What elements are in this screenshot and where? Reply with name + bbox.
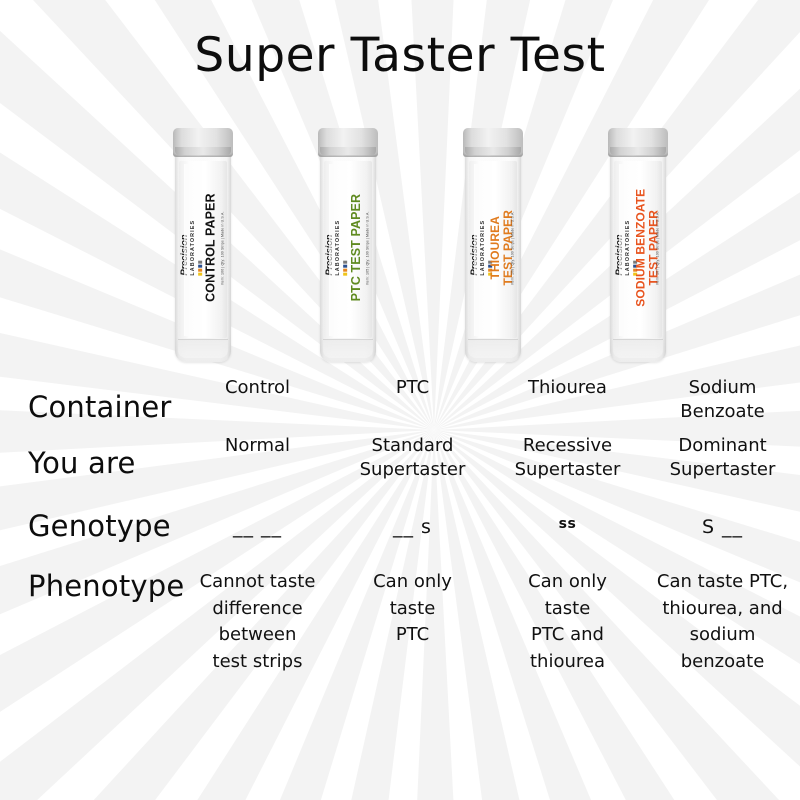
- fineprint-text: Item: 105 | Qty: 100 Strips | Made in U.…: [366, 211, 370, 284]
- table-row-container: Container Control PTC Thiourea SodiumBen…: [0, 372, 800, 434]
- vial-body: Precision LABORATORIES PTC TEST PAPER It…: [320, 134, 376, 362]
- brand-name: Precision: [470, 235, 480, 276]
- cell-genotype-thiourea: ss: [490, 507, 645, 533]
- vial-bottom: [178, 339, 228, 358]
- vial-cap: [463, 128, 523, 157]
- cell-phenotype-ptc: Can onlytastePTC: [335, 565, 490, 649]
- super-taster-test-infographic: Super Taster Test Precision LABORATORIES…: [0, 0, 800, 800]
- vial-cap: [608, 128, 668, 157]
- comparison-table: Container Control PTC Thiourea SodiumBen…: [0, 372, 800, 676]
- cell-you-are-sodium-benzoate: DominantSupertaster: [645, 434, 800, 482]
- product-name-text: CONTROL PAPER: [205, 194, 218, 302]
- row-label-phenotype: Phenotype: [0, 565, 180, 603]
- vial-bottom: [323, 339, 373, 358]
- product-fineprint: Item: 107 | Qty: 100 Strips | Made in U.…: [653, 173, 663, 323]
- product-fineprint: Item: 106 | Qty: 100 Strips | Made in U.…: [218, 173, 228, 323]
- cell-genotype-control: __ __: [180, 507, 335, 540]
- vial-body: Precision LABORATORIES THIOUREATEST PAPE…: [465, 134, 521, 362]
- product-container-control: Precision LABORATORIES CONTROL PAPER Ite…: [130, 128, 275, 373]
- row-label-genotype: Genotype: [0, 507, 180, 543]
- brand-name: Precision: [615, 235, 625, 276]
- brand-subtitle: LABORATORIES: [479, 220, 486, 276]
- vial-bottom: [613, 339, 663, 358]
- brand-subtitle: LABORATORIES: [334, 220, 341, 276]
- vial-body: Precision LABORATORIES SODIUM BENZOATETE…: [610, 134, 666, 362]
- brand-name: Precision: [325, 235, 335, 276]
- cell-phenotype-sodium-benzoate: Can taste PTC,thiourea, andsodiumbenzoat…: [645, 565, 800, 676]
- vial-body: Precision LABORATORIES CONTROL PAPER Ite…: [175, 134, 231, 362]
- cell-container-ptc: PTC: [335, 372, 490, 400]
- fineprint-text: Item: 107 | Qty: 100 Strips | Made in U.…: [656, 211, 660, 284]
- cell-you-are-thiourea: RecessiveSupertaster: [490, 434, 645, 482]
- row-label-you-are: You are: [0, 434, 180, 480]
- cell-genotype-ptc: __ s: [335, 507, 490, 540]
- brand-name: Precision: [180, 235, 190, 276]
- fineprint-text: Item: 108 | Qty: 100 Strips | Made in U.…: [511, 211, 515, 284]
- fineprint-text: Item: 106 | Qty: 100 Strips | Made in U.…: [221, 211, 225, 284]
- cell-container-control: Control: [180, 372, 335, 400]
- product-name-text: PTC TEST PAPER: [350, 194, 363, 301]
- product-container-row: Precision LABORATORIES CONTROL PAPER Ite…: [0, 128, 800, 373]
- cell-container-sodium-benzoate: SodiumBenzoate: [645, 372, 800, 424]
- table-row-you-are: You are Normal StandardSupertaster Reces…: [0, 434, 800, 507]
- product-fineprint: Item: 105 | Qty: 100 Strips | Made in U.…: [363, 173, 373, 323]
- cell-phenotype-thiourea: Can onlytastePTC andthiourea: [490, 565, 645, 676]
- page-title: Super Taster Test: [0, 28, 800, 83]
- row-label-container: Container: [0, 372, 180, 424]
- cell-phenotype-control: Cannot tastedifferencebetweentest strips: [180, 565, 335, 676]
- cell-container-thiourea: Thiourea: [490, 372, 645, 400]
- product-container-ptc: Precision LABORATORIES PTC TEST PAPER It…: [275, 128, 420, 373]
- brand-subtitle: LABORATORIES: [624, 220, 631, 276]
- vial-cap: [173, 128, 233, 157]
- product-container-sodium-benzoate: Precision LABORATORIES SODIUM BENZOATETE…: [565, 128, 710, 373]
- cell-genotype-sodium-benzoate: S __: [645, 507, 800, 540]
- product-fineprint: Item: 108 | Qty: 100 Strips | Made in U.…: [508, 173, 518, 323]
- vial-bottom: [468, 339, 518, 358]
- vial-cap: [318, 128, 378, 157]
- cell-you-are-ptc: StandardSupertaster: [335, 434, 490, 482]
- table-row-genotype: Genotype __ __ __ s ss S __: [0, 507, 800, 565]
- brand-subtitle: LABORATORIES: [189, 220, 196, 276]
- table-row-phenotype: Phenotype Cannot tastedifferencebetweent…: [0, 565, 800, 676]
- cell-you-are-control: Normal: [180, 434, 335, 458]
- product-container-thiourea: Precision LABORATORIES THIOUREATEST PAPE…: [420, 128, 565, 373]
